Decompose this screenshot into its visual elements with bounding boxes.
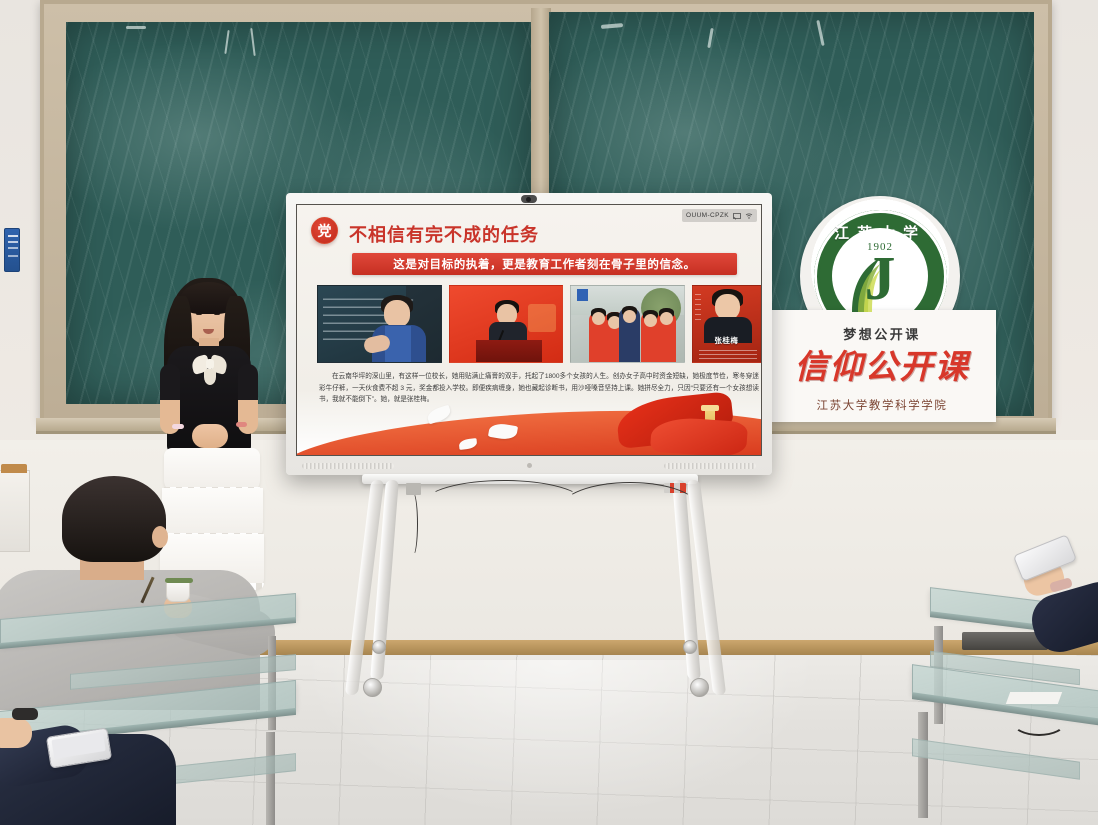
stand-caster (690, 678, 709, 697)
banner-subtitle-bottom: 江苏大学教学科学学院 (768, 397, 996, 413)
desk-cable (1012, 708, 1066, 736)
slide-title: 不相信有完不成的任务 (349, 221, 539, 247)
seal-character: 党 (318, 221, 332, 241)
slide-bottom-decoration (297, 387, 761, 455)
presenter-hands (192, 424, 228, 448)
power-cable (408, 492, 418, 556)
wall-banner: 梦想公开课 信仰公开课 江苏大学教学科学学院 (768, 310, 996, 422)
bow-accessory (192, 354, 228, 376)
speaker-grille-left (302, 463, 394, 469)
presentation-slide: OUUM-CPZK 党 不相信有完不成的任务 (297, 205, 761, 455)
display-screen[interactable]: OUUM-CPZK 党 不相信有完不成的任务 (296, 204, 762, 456)
slide-subtitle-bar: 这是对目标的执着，更是教育工作者刻在骨子里的信念。 (352, 253, 737, 275)
paper-sheet (1006, 692, 1062, 704)
banner-main-title: 信仰公开课 (768, 340, 996, 388)
photo-speech-at-podium (449, 285, 564, 363)
observer-right-side (1010, 548, 1098, 668)
photo-with-students (570, 285, 685, 363)
camera-icon (521, 195, 537, 203)
device-status-code: OUUM-CPZK (686, 212, 729, 219)
interactive-flat-panel[interactable]: OUUM-CPZK 党 不相信有完不成的任务 (286, 193, 772, 475)
stand-caster (372, 640, 386, 654)
display-bezel-bottom (286, 456, 772, 475)
portrait-caption: 张桂梅 (693, 335, 760, 346)
cast-icon[interactable] (733, 212, 741, 220)
party-seal-icon: 党 (311, 217, 338, 244)
stand-caster (683, 640, 697, 654)
power-indicator[interactable] (527, 463, 532, 468)
blue-wall-sign (4, 228, 20, 272)
wifi-icon[interactable] (745, 212, 753, 220)
slide-subtitle: 这是对目标的执着，更是教育工作者刻在骨子里的信念。 (393, 256, 696, 272)
classroom-scene: 江苏大学 1902 J JIANGSU UNIVERSITY 梦想公开课 信仰公… (0, 0, 1098, 825)
power-cable (560, 482, 700, 536)
slide-status-bar: OUUM-CPZK (682, 209, 757, 222)
slide-photo-row: 字有 (317, 285, 761, 363)
observer-dark-jacket (0, 700, 196, 825)
wristwatch (12, 708, 38, 720)
desk-right-front (912, 660, 1098, 820)
photo-teaching-at-blackboard: 字有 (317, 285, 442, 363)
stand-caster (363, 678, 382, 697)
photo-portrait-poster: 张桂梅 (692, 285, 761, 363)
logo-monogram: J (865, 248, 896, 310)
speaker-grille-right (664, 463, 756, 469)
power-cable (424, 480, 584, 526)
logo-year: 1902 (832, 241, 928, 253)
